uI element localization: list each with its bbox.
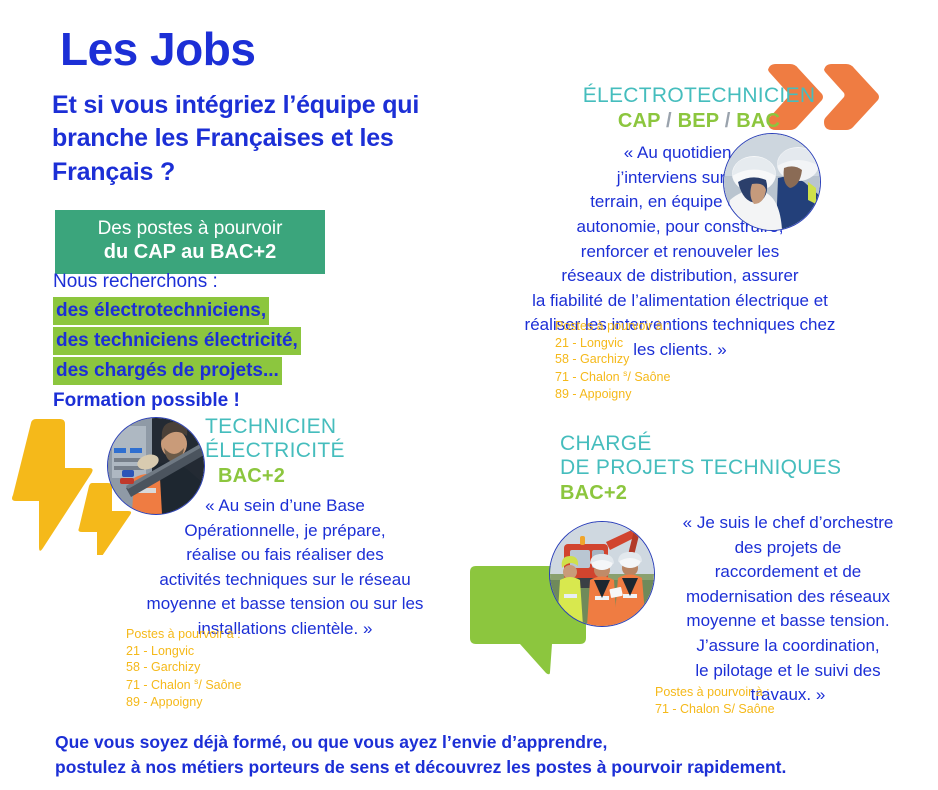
level-part-cap: CAP [618,110,660,132]
postes-list-electrotechnicien: Postes à pourvoir à : 21 - Longvic 58 - … [555,318,670,402]
badge-line-1: Des postes à pourvoir [69,218,311,240]
job-quote-charge-de-projets: « Je suis le chef d’orchestre des projet… [638,511,938,708]
job-level-charge-de-projets: BAC+2 [560,482,938,505]
job-quote-electrotechnicien: « Au quotidien, j’interviens sur le terr… [470,141,890,363]
poste-row: 89 - Appoigny [555,386,670,403]
job-level-technicien-electricite: BAC+2 [218,465,450,488]
page-subtitle: Et si vous intégriez l’équipe qui branch… [52,89,472,189]
poste-row: 58 - Garchizy [555,351,670,368]
poste-row: 21 - Longvic [555,335,670,352]
postes-heading-charge-de-projets: Postes à pourvoir à : [655,684,775,701]
positions-badge: Des postes à pourvoir du CAP au BAC+2 [55,210,325,274]
level-separator-1: / [666,110,672,132]
job-title-charge-de-projets: CHARGÉ DE PROJETS TECHNIQUES [560,432,938,480]
photo-technicien-electricite [107,417,205,515]
recruitment-closing: Formation possible ! [53,387,453,415]
poste-row: 71 - Chalon S/ Saône [655,701,775,718]
photo-charge-de-projets [549,521,655,627]
subtitle-line-1: Et si vous intégriez l’équipe [52,91,375,119]
poste-row: 89 - Appoigny [126,694,241,711]
job-card-electrotechnicien: ÉLECTROTECHNICIEN CAP / BEP / BAC « Au q… [470,84,890,363]
job-level-electrotechnicien: CAP / BEP / BAC [508,110,890,133]
job-title-electrotechnicien: ÉLECTROTECHNICIEN [508,84,890,108]
recruitment-highlight-2: des chargés de projets... [53,357,282,385]
badge-line-2: du CAP au BAC+2 [69,240,311,264]
job-quote-technicien-electricite: « Au sein d’une Base Opérationnelle, je … [120,494,450,642]
level-part-bac: BAC [736,110,780,132]
level-separator-2: / [725,110,731,132]
recruitment-highlight-1: des techniciens électricité, [53,327,301,355]
job-title-technicien-electricite: TECHNICIEN ÉLECTRICITÉ [205,415,450,463]
recruitment-highlight-0: des électrotechniciens, [53,297,269,325]
poste-row: 58 - Garchizy [126,659,241,676]
level-part-bep: BEP [678,110,719,132]
postes-list-technicien-electricite: Postes à pourvoir à : 21 - Longvic 58 - … [126,626,241,710]
recruitment-intro: Nous recherchons : [53,268,453,296]
poste-row: 71 - Chalon s/ Saône [555,368,670,386]
postes-heading-electrotechnicien: Postes à pourvoir à : [555,318,670,335]
footer-line-1: Que vous soyez déjà formé, ou que vous a… [55,730,895,755]
poster-canvas: Les Jobs Et si vous intégriez l’équipe q… [0,0,938,790]
footer-call-to-action: Que vous soyez déjà formé, ou que vous a… [55,730,895,780]
poste-row: 71 - Chalon s/ Saône [126,676,241,694]
footer-line-2: postulez à nos métiers porteurs de sens … [55,755,895,780]
recruitment-list: Nous recherchons : des électrotechnicien… [53,268,453,416]
poste-row: 21 - Longvic [126,643,241,660]
postes-heading-technicien-electricite: Postes à pourvoir à : [126,626,241,643]
postes-list-charge-de-projets: Postes à pourvoir à : 71 - Chalon S/ Saô… [655,684,775,717]
page-title: Les Jobs [60,26,255,72]
photo-electrotechnicien [723,133,821,231]
